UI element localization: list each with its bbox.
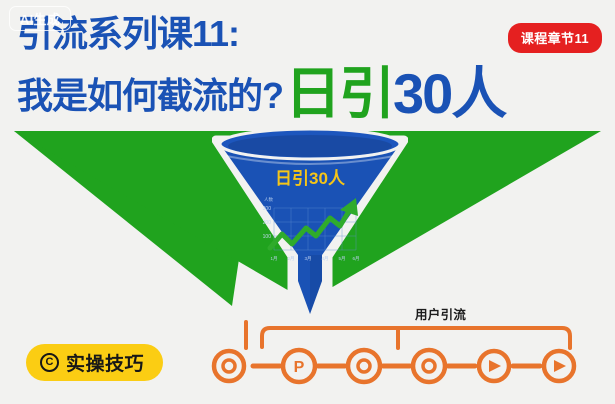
headline: 引流系列课11: 我是如何截流的? 日引 30人 bbox=[17, 16, 505, 117]
svg-text:P: P bbox=[294, 359, 305, 376]
funnel-icon bbox=[212, 126, 408, 316]
poster-canvas: 日引30人 人数 300 200 100 1月 2月 3月 bbox=[0, 0, 615, 404]
skill-badge: C 实操技巧 bbox=[26, 344, 163, 381]
flow-node-p[interactable]: P bbox=[283, 350, 315, 382]
flow-node-target[interactable] bbox=[214, 351, 244, 381]
user-flow-diagram: P bbox=[205, 300, 615, 392]
headline-emphasis: 日引 30人 bbox=[285, 66, 505, 122]
flow-node-play-2[interactable] bbox=[544, 351, 574, 381]
skill-badge-label: 实操技巧 bbox=[66, 349, 144, 376]
chapter-badge: 课程章节11 bbox=[508, 23, 602, 53]
flow-node-play[interactable] bbox=[479, 351, 509, 381]
headline-emphasis-blue: 30人 bbox=[393, 66, 505, 122]
headline-line-1: 引流系列课11: bbox=[17, 16, 505, 52]
flow-node-target-2[interactable] bbox=[348, 350, 380, 382]
headline-emphasis-green: 日引 bbox=[285, 66, 393, 122]
flow-label: 用户引流 bbox=[415, 304, 466, 323]
headline-line-2-prefix: 我是如何截流的? bbox=[17, 78, 283, 114]
flow-node-target-3[interactable] bbox=[413, 350, 445, 382]
flow-connector-bracket bbox=[262, 328, 570, 348]
copyright-icon: C bbox=[40, 353, 59, 372]
headline-line-2: 我是如何截流的? 日引 30人 bbox=[17, 61, 505, 117]
